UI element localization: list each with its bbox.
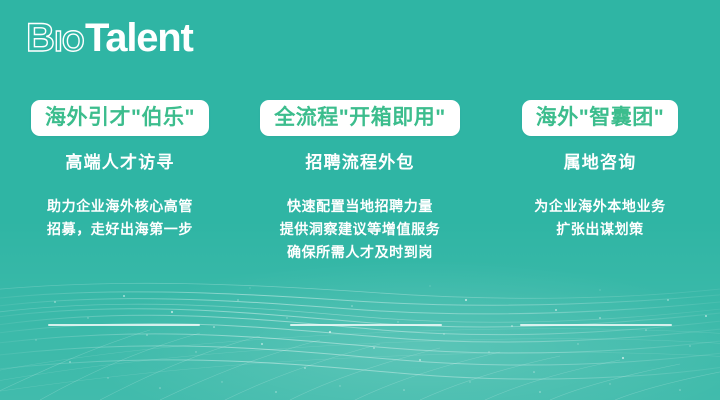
column-2-badge[interactable]: 全流程"开箱即用"	[260, 100, 459, 136]
feature-columns: 海外引才"伯乐" 高端人才访寻 助力企业海外核心高管 招募，走好出海第一步 全流…	[0, 100, 720, 264]
feature-column-2: 全流程"开箱即用" 招聘流程外包 快速配置当地招聘力量 提供洞察建议等增值服务 …	[240, 100, 480, 264]
column-3-body-line-1: 为企业海外本地业务	[534, 195, 665, 218]
column-3-badge[interactable]: 海外"智囊团"	[522, 100, 678, 136]
column-2-subtitle: 招聘流程外包	[305, 154, 414, 171]
column-3-divider	[520, 324, 672, 326]
logo-letter-b: B	[26, 16, 54, 60]
feature-column-1: 海外引才"伯乐" 高端人才访寻 助力企业海外核心高管 招募，走好出海第一步	[0, 100, 240, 264]
column-1-divider	[48, 324, 200, 326]
column-1-body: 助力企业海外核心高管 招募，走好出海第一步	[47, 195, 193, 241]
poster-canvas: BIO Talent 海外引才"伯乐" 高端人才访寻 助力企业海外核心高管 招募…	[0, 0, 720, 400]
feature-column-3: 海外"智囊团" 属地咨询 为企业海外本地业务 扩张出谋划策	[480, 100, 720, 264]
brand-logo: BIO Talent	[26, 18, 193, 60]
column-3-body-line-2: 扩张出谋划策	[534, 218, 665, 241]
column-2-body-line-2: 提供洞察建议等增值服务	[280, 218, 441, 241]
column-1-subtitle: 高端人才访寻	[65, 154, 174, 171]
logo-bio-outline: BIO	[26, 18, 84, 58]
column-1-badge[interactable]: 海外引才"伯乐"	[31, 100, 209, 136]
column-3-subtitle: 属地咨询	[564, 154, 637, 171]
column-2-body-line-3: 确保所需人才及时到岗	[280, 241, 441, 264]
column-1-body-line-2: 招募，走好出海第一步	[47, 218, 193, 241]
column-2-body: 快速配置当地招聘力量 提供洞察建议等增值服务 确保所需人才及时到岗	[280, 195, 441, 264]
column-2-divider	[290, 324, 442, 326]
column-1-body-line-1: 助力企业海外核心高管	[47, 195, 193, 218]
logo-letters-io: IO	[54, 26, 84, 58]
column-3-body: 为企业海外本地业务 扩张出谋划策	[534, 195, 665, 241]
logo-talent-solid: Talent	[85, 18, 193, 58]
column-2-body-line-1: 快速配置当地招聘力量	[280, 195, 441, 218]
